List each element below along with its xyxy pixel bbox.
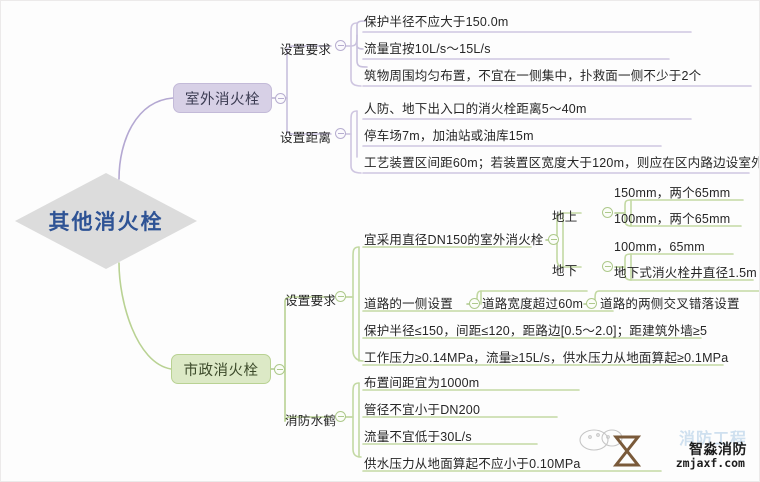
leaf-outdoor-req-2[interactable]: 流量宜按10L/s～15L/s: [364, 42, 491, 56]
leaf-outdoor-req-1[interactable]: 保护半径不应大于150.0m: [364, 15, 509, 29]
leaf-road-width-over-60[interactable]: 道路宽度超过60m: [482, 297, 583, 311]
branch-node-outdoor-hydrant[interactable]: 室外消火栓: [173, 83, 272, 113]
brand-logo-icon: [612, 435, 642, 467]
label-below-ground[interactable]: 地下: [552, 260, 578, 279]
leaf-below-ground-1[interactable]: 100mm，65mm: [614, 240, 705, 254]
toggle-below-ground[interactable]: [602, 261, 613, 272]
group-label-outdoor-distance[interactable]: 设置距离: [280, 127, 331, 146]
toggle-road-one-side[interactable]: [469, 298, 480, 309]
leaf-outdoor-dist-1[interactable]: 人防、地下出入口的消火栓距离5～40m: [364, 102, 587, 116]
leaf-municipal-pressure-flow[interactable]: 工作压力≥0.14MPa，流量≥15L/s，供水压力从地面算起≥0.1MPa: [364, 351, 728, 365]
leaf-outdoor-dist-2[interactable]: 停车场7m，加油站或油库15m: [364, 129, 534, 143]
root-label: 其他消火栓: [15, 173, 197, 269]
leaf-below-ground-2[interactable]: 地下式消火栓井直径1.5m: [614, 266, 757, 280]
toggle-municipal-dn150[interactable]: [548, 234, 559, 245]
leaf-water-crane-2[interactable]: 管径不宜小于DN200: [364, 403, 480, 417]
group-label-water-crane[interactable]: 消防水鹤: [285, 410, 336, 429]
toggle-outdoor-requirements[interactable]: [335, 40, 346, 51]
leaf-road-one-side[interactable]: 道路的一侧设置: [364, 297, 453, 311]
branch-node-municipal-hydrant[interactable]: 市政消火栓: [171, 354, 271, 384]
leaf-above-ground-2[interactable]: 100mm，两个65mm: [614, 212, 730, 226]
leaf-municipal-dn150[interactable]: 宜采用直径DN150的室外消火栓: [364, 233, 544, 247]
mindmap-canvas: 其他消火栓 室外消火栓 设置要求 保护半径不应大于150.0m 流量宜按10L/…: [0, 0, 760, 482]
toggle-outdoor-hydrant[interactable]: [275, 93, 286, 104]
group-label-municipal-requirements[interactable]: 设置要求: [285, 290, 336, 309]
leaf-municipal-radius-spacing[interactable]: 保护半径≤150，间距≤120，距路边[0.5～2.0]；距建筑外墙≥5: [364, 324, 707, 338]
leaf-above-ground-1[interactable]: 150mm，两个65mm: [614, 186, 730, 200]
toggle-outdoor-distance[interactable]: [335, 128, 346, 139]
leaf-outdoor-dist-3[interactable]: 工艺装置区间距60m；若装置区宽度大于120m，则应在区内路边设室外消火栓: [364, 156, 760, 170]
watermark: 消防工程 智淼消防 zmjaxf.com: [604, 423, 749, 475]
toggle-municipal-hydrant[interactable]: [274, 364, 285, 375]
leaf-water-crane-4[interactable]: 供水压力从地面算起不应小于0.10MPa: [364, 457, 581, 471]
leaf-outdoor-req-3[interactable]: 筑物周围均匀布置，不宜在一侧集中，扑救面一侧不少于2个: [364, 69, 701, 83]
watermark-url: zmjaxf.com: [676, 456, 745, 470]
leaf-water-crane-1[interactable]: 布置间距宜为1000m: [364, 376, 479, 390]
toggle-water-crane[interactable]: [335, 411, 346, 422]
root-node[interactable]: 其他消火栓: [15, 173, 197, 269]
toggle-road-width-over-60[interactable]: [586, 298, 597, 309]
toggle-above-ground[interactable]: [602, 207, 613, 218]
group-label-outdoor-requirements[interactable]: 设置要求: [280, 39, 331, 58]
label-above-ground[interactable]: 地上: [552, 206, 578, 225]
toggle-municipal-requirements[interactable]: [335, 291, 346, 302]
leaf-water-crane-3[interactable]: 流量不宜低于30L/s: [364, 430, 472, 444]
leaf-road-both-sides[interactable]: 道路的两侧交叉错落设置: [600, 297, 740, 311]
